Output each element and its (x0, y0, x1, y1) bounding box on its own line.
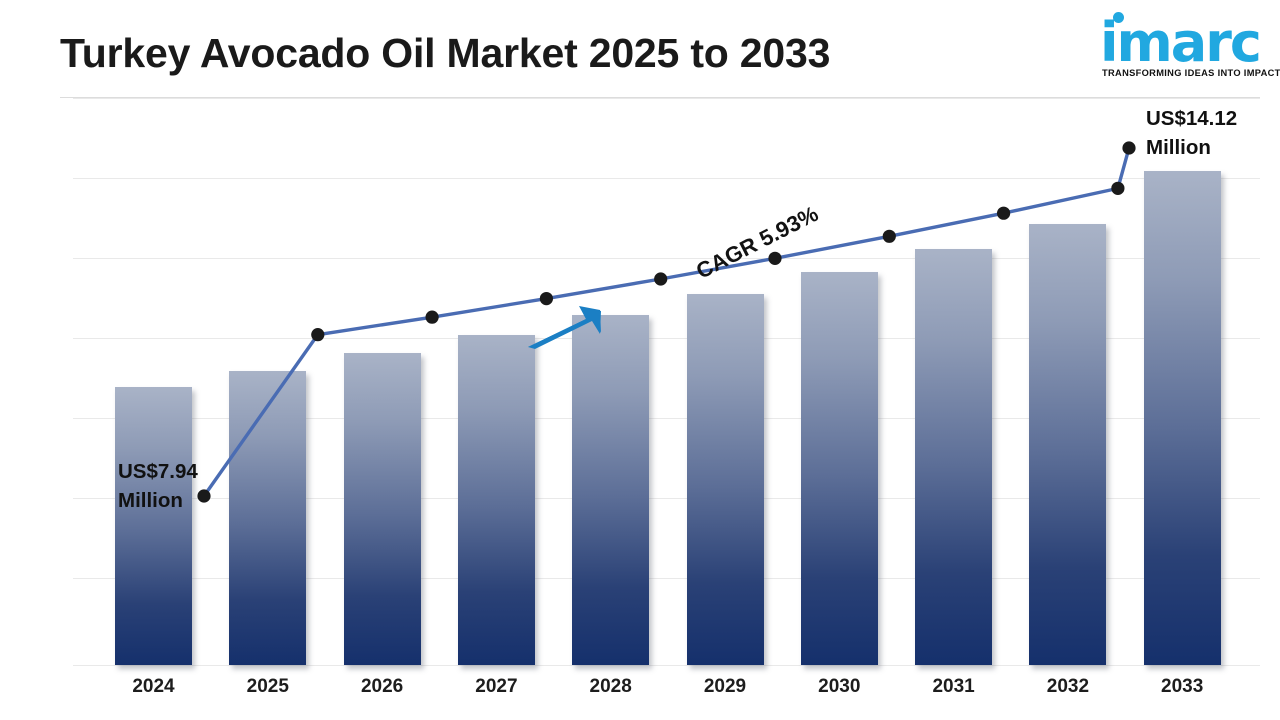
chart-page: Turkey Avocado Oil Market 2025 to 2033 i… (0, 0, 1280, 720)
x-axis-label-2028: 2028 (554, 676, 668, 698)
chart-plot-area: CAGR 5.93% US$7.94 Million US$14.12 Mill… (0, 98, 1280, 720)
imarc-logo: imarc TRANSFORMING IDEAS INTO IMPACT (1100, 6, 1275, 84)
x-axis-label-2026: 2026 (325, 676, 439, 698)
x-axis-label-2032: 2032 (1011, 676, 1125, 698)
x-axis-label-2033: 2033 (1125, 676, 1239, 698)
x-axis-labels: 2024202520262027202820292030203120322033 (0, 98, 1280, 720)
logo-tagline: TRANSFORMING IDEAS INTO IMPACT (1102, 68, 1280, 78)
x-axis-label-2027: 2027 (439, 676, 553, 698)
x-axis-label-2029: 2029 (668, 676, 782, 698)
x-axis-label-2030: 2030 (782, 676, 896, 698)
logo-wordmark: imarc (1100, 16, 1260, 70)
page-title: Turkey Avocado Oil Market 2025 to 2033 (60, 30, 830, 77)
x-axis-label-2031: 2031 (896, 676, 1010, 698)
header: Turkey Avocado Oil Market 2025 to 2033 i… (0, 0, 1280, 98)
x-axis-label-2024: 2024 (96, 676, 210, 698)
x-axis-label-2025: 2025 (211, 676, 325, 698)
